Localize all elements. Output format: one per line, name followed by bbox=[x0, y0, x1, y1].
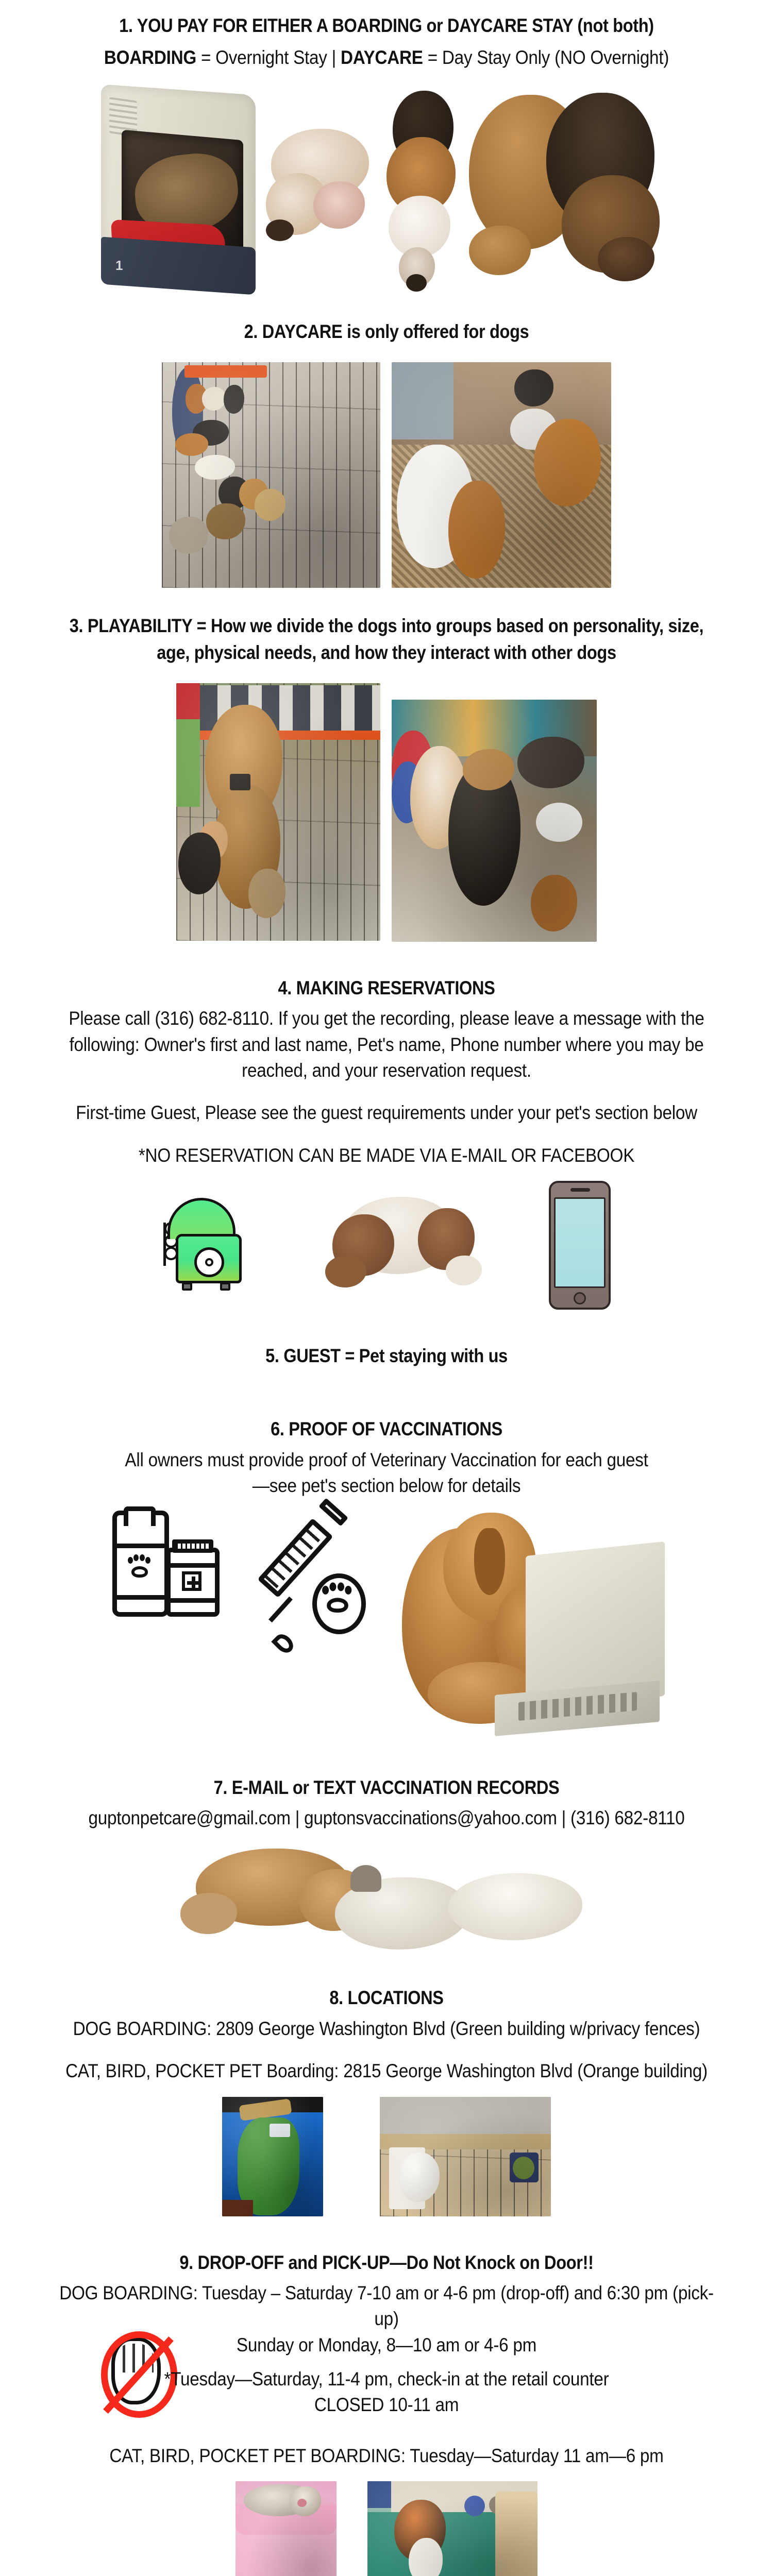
sleeping-dogs-pair-cutout bbox=[469, 88, 675, 294]
section-2-heading: 2. DAYCARE is only offered for dogs bbox=[46, 318, 727, 346]
daycare-term: DAYCARE bbox=[341, 47, 423, 68]
sleeping-cats-cutout bbox=[180, 1843, 593, 1952]
section-8-heading: 8. LOCATIONS bbox=[46, 1985, 727, 2012]
boarding-definition: = Overnight Stay | bbox=[196, 47, 341, 68]
daycare-definition: = Day Stay Only (NO Overnight) bbox=[423, 47, 669, 68]
reptile-aquarium-photo bbox=[222, 2097, 323, 2216]
daycare-outdoor-playgroup-photo bbox=[392, 362, 611, 588]
section-4-icon-row bbox=[0, 1181, 773, 1310]
small-dogs-in-play-pen-photo bbox=[392, 700, 597, 942]
section-8-image-row bbox=[0, 2097, 773, 2216]
poodle-in-play-pen-photo bbox=[176, 683, 380, 941]
vaccine-bottles-icon bbox=[108, 1507, 242, 1631]
section-9-cat-bird-pocket-hours: CAT, BIRD, POCKET PET BOARDING: Tuesday—… bbox=[39, 2443, 734, 2469]
section-9-heading: 9. DROP-OFF and PICK-UP—Do Not Knock on … bbox=[46, 2249, 727, 2277]
section-9-dog-hours: DOG BOARDING: Tuesday – Saturday 7-10 am… bbox=[39, 2280, 734, 2332]
section-4-paragraph-1: Please call (316) 682-8110. If you get t… bbox=[39, 1006, 734, 1083]
section-8-location-cat: CAT, BIRD, POCKET PET Boarding: 2815 Geo… bbox=[39, 2058, 734, 2084]
section-7-image-row bbox=[0, 1843, 773, 1952]
dog-in-kennel-crate-photo: 1 bbox=[98, 88, 263, 294]
calico-cat-condo-photo bbox=[367, 2481, 537, 2576]
section-6-paragraph-1: All owners must provide proof of Veterin… bbox=[39, 1447, 734, 1473]
section-2-image-row bbox=[0, 362, 773, 588]
section-9-retail-checkin: *Tuesday—Saturday, 11-4 pm, check-in at … bbox=[39, 2366, 734, 2392]
section-4-heading: 4. MAKING RESERVATIONS bbox=[46, 975, 727, 1002]
dog-rolling-cutout bbox=[322, 1194, 487, 1297]
section-3-image-row bbox=[0, 683, 773, 942]
section-7-contact-line: guptonpetcare@gmail.com | guptonsvaccina… bbox=[39, 1805, 734, 1831]
section-1-subheading: BOARDING = Overnight Stay | DAYCARE = Da… bbox=[39, 44, 734, 72]
section-6-heading: 6. PROOF OF VACCINATIONS bbox=[46, 1416, 727, 1443]
section-8-location-dog: DOG BOARDING: 2809 George Washington Blv… bbox=[39, 2016, 734, 2042]
smartphone-icon bbox=[549, 1181, 611, 1310]
dog-at-laptop-photo bbox=[397, 1507, 665, 1750]
section-3-heading: 3. PLAYABILITY = How we divide the dogs … bbox=[46, 613, 727, 667]
sleeping-puppy-cutout-2 bbox=[381, 88, 469, 294]
cat-on-pink-shelf-photo bbox=[236, 2481, 337, 2576]
section-1-heading: 1. YOU PAY FOR EITHER A BOARDING or DAYC… bbox=[46, 12, 727, 40]
section-9-closed-window: CLOSED 10-11 am bbox=[39, 2392, 734, 2418]
section-7-heading: 7. E-MAIL or TEXT VACCINATION RECORDS bbox=[46, 1774, 727, 1802]
section-4-paragraph-3: *NO RESERVATION CAN BE MADE VIA E-MAIL O… bbox=[39, 1143, 734, 1168]
crate-number-label: 1 bbox=[115, 258, 123, 274]
syringe-paw-icon bbox=[263, 1507, 376, 1662]
sleeping-puppy-cutout-1 bbox=[263, 124, 381, 294]
rabbit-in-cage-photo bbox=[380, 2097, 551, 2216]
section-9-image-row bbox=[0, 2481, 773, 2576]
section-6-icon-row bbox=[0, 1507, 773, 1750]
section-1-image-row: 1 bbox=[0, 88, 773, 294]
section-9-sunday-monday-hours: Sunday or Monday, 8—10 am or 4-6 pm bbox=[39, 2332, 734, 2358]
boarding-term: BOARDING bbox=[104, 47, 196, 68]
policy-document-page: 1. YOU PAY FOR EITHER A BOARDING or DAYC… bbox=[0, 0, 773, 2576]
section-4-paragraph-2: First-time Guest, Please see the guest r… bbox=[39, 1100, 734, 1126]
section-5-heading: 5. GUEST = Pet staying with us bbox=[46, 1343, 727, 1370]
daycare-indoor-playgroup-photo bbox=[162, 362, 380, 588]
section-6-paragraph-2: —see pet's section below for details bbox=[39, 1473, 734, 1499]
rotary-telephone-icon bbox=[162, 1194, 260, 1297]
